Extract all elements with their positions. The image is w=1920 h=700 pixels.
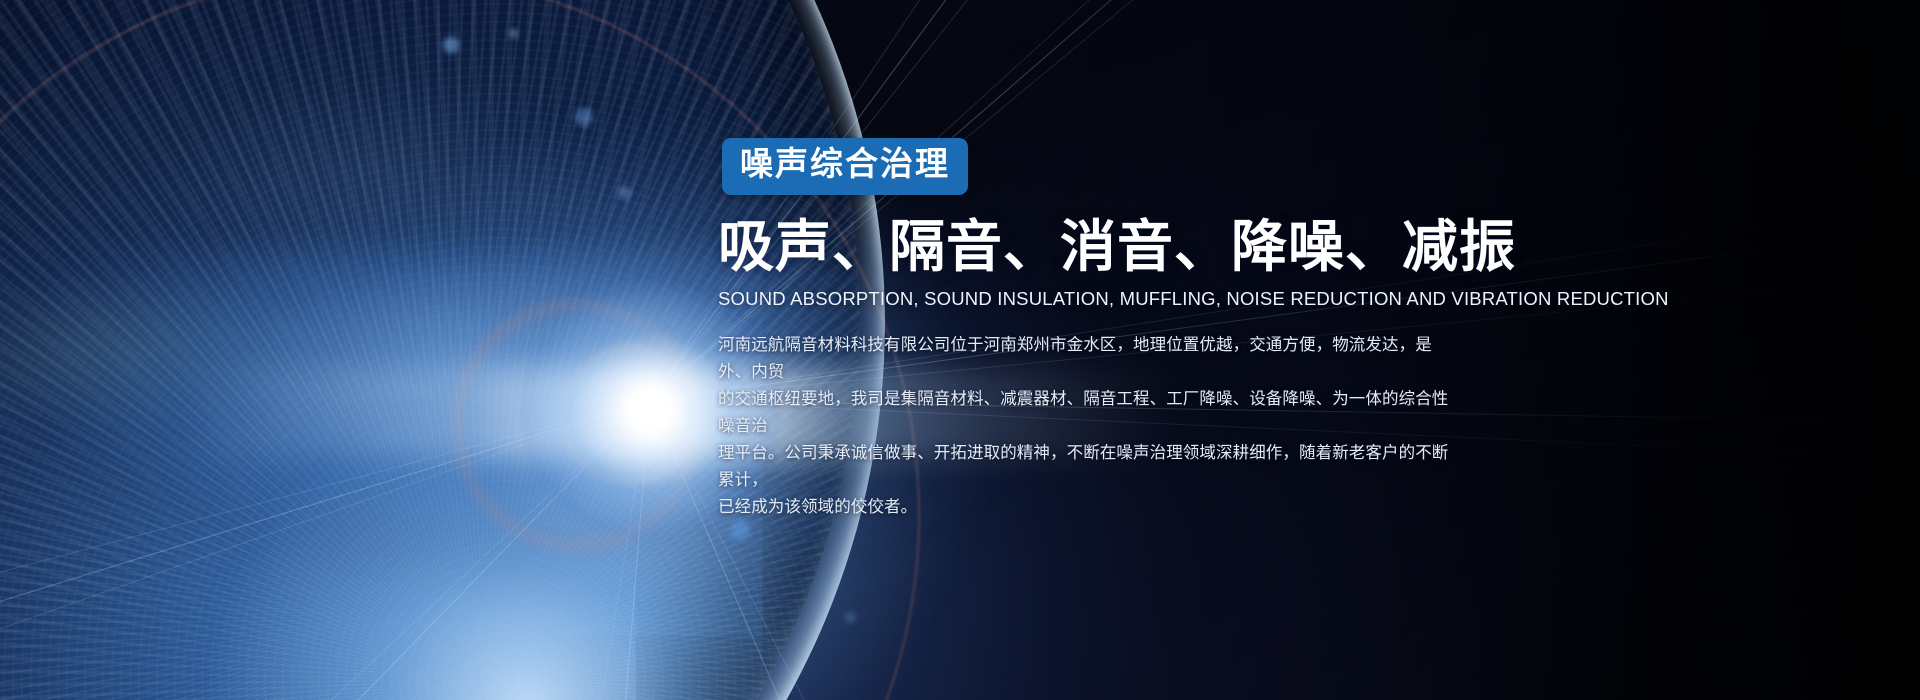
hero-description: 河南远航隔音材料科技有限公司位于河南郑州市金水区，地理位置优越，交通方便，物流发…: [718, 332, 1460, 521]
description-line: 理平台。公司秉承诚信做事、开拓进取的精神，不断在噪声治理领域深耕细作，随着新老客…: [718, 440, 1460, 494]
hero-headline: 吸声、隔音、消音、降噪、减振: [718, 217, 1498, 276]
description-line: 的交通枢纽要地，我司是集隔音材料、减震器材、隔音工程、工厂降噪、设备降噪、为一体…: [718, 386, 1460, 440]
description-line: 已经成为该领域的佼佼者。: [718, 494, 1460, 521]
hero-subheadline-english: SOUND ABSORPTION, SOUND INSULATION, MUFF…: [718, 288, 1498, 310]
hero-content: 噪声综合治理 吸声、隔音、消音、降噪、减振 SOUND ABSORPTION, …: [718, 138, 1498, 521]
category-badge: 噪声综合治理: [722, 138, 968, 195]
description-line: 河南远航隔音材料科技有限公司位于河南郑州市金水区，地理位置优越，交通方便，物流发…: [718, 332, 1460, 386]
hero-banner: 噪声综合治理 吸声、隔音、消音、降噪、减振 SOUND ABSORPTION, …: [0, 0, 1920, 700]
